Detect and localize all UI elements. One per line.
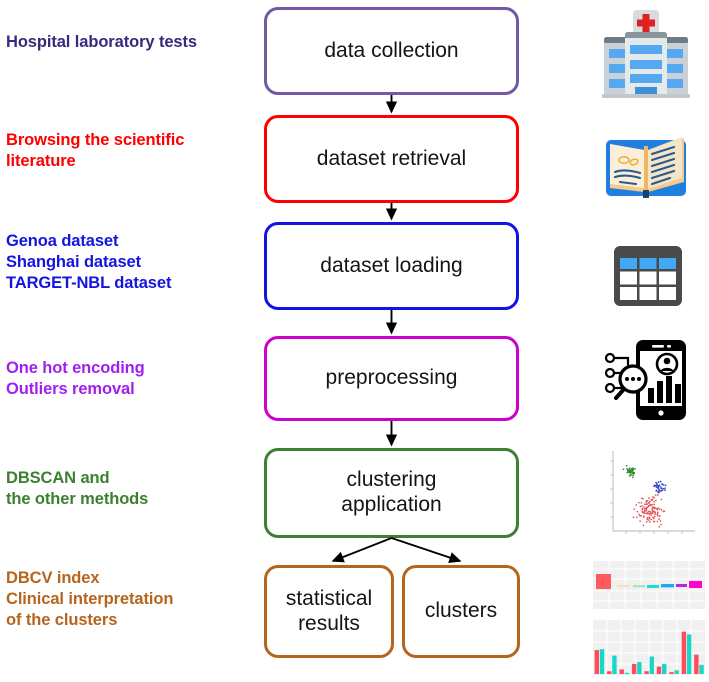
side-label-clustering-methods: DBSCAN and the other methods <box>6 468 256 510</box>
icon-cell-phone-analytics <box>600 332 696 428</box>
flow-box-label: clusters <box>425 599 497 624</box>
icon-cell-hospital <box>596 8 696 104</box>
icon-cell-strip-chart <box>593 561 705 609</box>
hospital-building-icon <box>596 8 696 104</box>
paired-bar-chart-icon <box>593 620 705 675</box>
flow-box-label: dataset loading <box>320 254 462 279</box>
flow-box-dataset-retrieval[interactable]: dataset retrieval <box>264 115 519 203</box>
flow-box-clusters[interactable]: clusters <box>402 565 520 658</box>
cluster-scatter-plot-icon <box>600 443 700 543</box>
open-book-icon <box>600 118 692 210</box>
icon-cell-scatter <box>600 443 700 543</box>
side-label-evaluation-and-interpretation: DBCV index Clinical interpretation of th… <box>6 568 256 631</box>
side-label-preprocessing-steps: One hot encoding Outliers removal <box>6 358 256 400</box>
mobile-data-analysis-icon <box>600 332 696 428</box>
flowchart-diagram: Hospital laboratory tests Browsing the s… <box>0 0 709 682</box>
icon-cell-bar-chart <box>593 620 705 675</box>
flow-box-label: preprocessing <box>326 366 458 391</box>
flow-box-label: clustering application <box>341 468 441 518</box>
arrow-clustering-to-clusters <box>392 538 461 561</box>
flow-box-statistical-results[interactable]: statistical results <box>264 565 394 658</box>
flow-box-dataset-loading[interactable]: dataset loading <box>264 222 519 310</box>
flow-box-clustering-application[interactable]: clustering application <box>264 448 519 538</box>
side-label-browsing-the-scientific-literature: Browsing the scientific literature <box>6 130 256 172</box>
icon-cell-table <box>610 238 686 314</box>
flow-box-label: statistical results <box>286 587 372 637</box>
horizontal-strip-chart-icon <box>593 561 705 609</box>
data-table-icon <box>610 238 686 314</box>
icon-cell-book <box>600 118 692 210</box>
side-label-datasets-list: Genoa dataset Shanghai dataset TARGET-NB… <box>6 231 256 294</box>
flow-box-label: dataset retrieval <box>317 147 466 172</box>
arrow-clustering-to-statistical-results <box>333 538 392 561</box>
flow-box-label: data collection <box>324 39 458 64</box>
flow-box-preprocessing[interactable]: preprocessing <box>264 336 519 421</box>
flow-box-data-collection[interactable]: data collection <box>264 7 519 95</box>
side-label-hospital-laboratory-tests: Hospital laboratory tests <box>6 32 256 53</box>
